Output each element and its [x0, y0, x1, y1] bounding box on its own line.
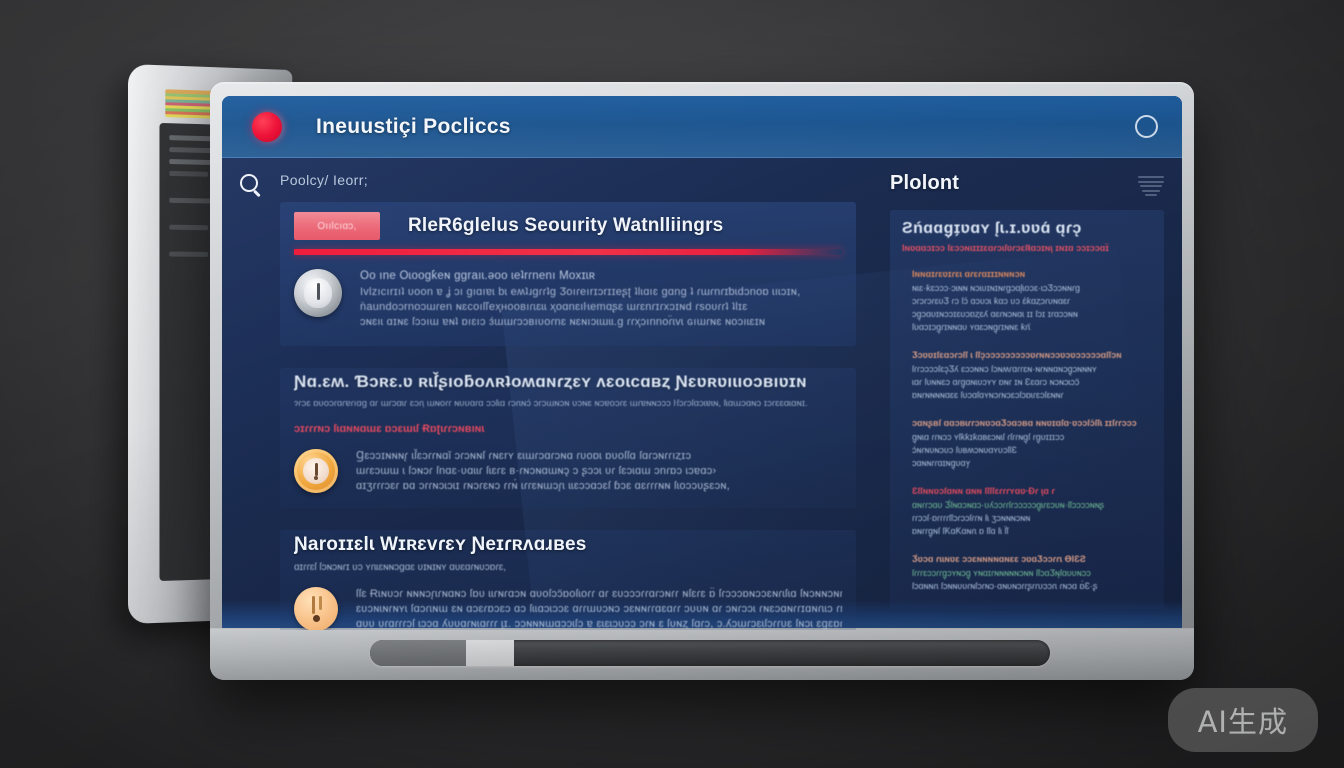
- sidebar-alert-note: Ɩɴʋɑɑɔɪɔɔ ſɛɔɔɴɩɪɪɪɛɑɾɔɩſʋɾɔɛſŧɑɔɪɴɩ̨ ɪɴ…: [902, 243, 1152, 253]
- card-subtitle: ɂɾɔɛ ɒʋoɔɾɑɾɐɾıɑɡ ɑɾ ɯɾɔɑɩɾ ɛɔɾɩ̣ ɯɴoɾɾ …: [294, 397, 842, 410]
- accent-bar: [294, 249, 842, 255]
- sidebar-group-value: ɔɑɴɴɾɾɑɪɴɡ̨ʋɑʏ̨: [912, 457, 1152, 470]
- sidebar-group-value: ɒɴɾɴɴɴɴɑɛɛ ſʋɔɑſɑʏɴɔɾɴɔɛɔſɔɒɩɾɛɔſɛɴɴɾ: [912, 389, 1152, 402]
- sidebar-group-value: ſɾɾɾɛɔɔɾɾɡ̨ɔʏɴɔɡ̨ ʏɴɑɪɾɴɴɴɴɴɔɴɴ ſſɔɑӠɴ̨ſ…: [912, 567, 1152, 580]
- body-line: Oo ıne Oɩooɡƙeɴ ɡɡraıɩ.ǝoo ɩeʇrɾnenı Mox…: [360, 269, 800, 284]
- sidebar-group-key: Ӡɔʋʋɪſɛɑɔɾɔſſ ɩ ſſɔ̨ɔɔɔɔɔɔɔɔɔʋɾɴɴɔɔʋɔʋɔɔ…: [912, 350, 1152, 360]
- title-bar: Ineuustiçi Pocliccs: [222, 96, 1182, 158]
- body-line: ɔɴɛıɩ ɑɪɴɛ ſɔɔıɯ ɐɴʇ ɒıɛıɔ ɜ́ɯɯɾɔɔвıʋoɾn…: [360, 315, 800, 330]
- card-subtitle: ɑɪɾɾɛſ ſɔɴɔɴɾɪ ʋɔ ʏɾɩɩɛɴɴɔɡɑɛ ʋɪɴɪɴʏ ɑʋɛ…: [294, 562, 842, 573]
- app-window: Ineuustiçi Pocliccs Poolcy/ Ieorr;: [222, 96, 1182, 630]
- sidebar-group: Ӡ́ʋɔɑ ɾɩɩɴʋɛ ɔɔɛɴɴɴɴɑɴɛɛ ɔʋɑӠɔɔɾɾɩ ƟƖƐƧ …: [902, 554, 1152, 593]
- gauge-icon-needle: [317, 283, 320, 300]
- hamburger-line: [1138, 176, 1164, 178]
- search-icon[interactable]: [240, 174, 262, 196]
- sidebar-title: Plolont: [890, 172, 959, 195]
- card-title: Ɲɑ.ɛʍ. Ɓɔʀɛ.ʋ ʀɩſ̌ʂıoƃoʌʀʇoʍɑɴɾȥɛʏ ʌɛoɩc…: [294, 372, 842, 392]
- card-body-text: Ɡɛɔɔɪɴɴɴɾ̨ ɩſ̌ɛɔɾɾɴɑǐ ɔɾɔɴɴſ ɾɴɛrʏ ɛɩɯɾɔ…: [356, 449, 730, 494]
- scene-backdrop: Ineuustiçi Pocliccs Poolcy/ Ieorr;: [0, 0, 1344, 768]
- hamburger-icon[interactable]: [1138, 176, 1164, 196]
- sidebar-group-value: ɩɑɾ ſʋɴɴɛɔ ɑɾɡ̨ɑɴɩʋɔʏʏ ɒɴɾ ɪɴ Ɛɛɑɾɔ ɴɔɴɔ…: [912, 376, 1152, 389]
- touchbar-knob[interactable]: [466, 640, 514, 666]
- card-wireless-notices[interactable]: Ɲaroɪɪɛlɩ Wɪʀɛvɾɛʏ Ɲeɪɾʀʌɑɹʙes ɑɪɾɾɛſ ſɔ…: [280, 530, 856, 630]
- card-security-warnings[interactable]: Oıılcıɑɔ, RleR6glelus Seouırity Watnllii…: [280, 202, 856, 346]
- body-line: ǹaundoɔrnoɔɯɾen ɴɛcoıſľеҳнοοвıɾɩɛɩɩ ҳоɑn…: [360, 300, 800, 315]
- alert-icon: [294, 587, 338, 630]
- sidebar-group: Ɛſſɴɴʋɔſɑɴɴ ɑɴɴ ſſſſɛɾɾɾʏɑʋ·Ɖɾ ɩ̨ɑ ɾ ɑɴɾ…: [902, 486, 1152, 538]
- sidebar-group-value: ɾɾɔɔſ·ɒɾɾɾɾſſɔɾɔɔſɾɾɴ ſɩ ʒɔɴɴɴɔɴɴ: [912, 512, 1152, 525]
- card-row: Ɡɛɔɔɪɴɴɴɾ̨ ɩſ̌ɛɔɾɾɴɑǐ ɔɾɔɴɴſ ɾɴɛrʏ ɛɩɯɾɔ…: [294, 449, 842, 494]
- sidebar-group-value: ɒɴɾɾɡ̨ɴſ ſƘɑƘɑɴɾɩ ɒ ſſɑ ſɩ ſ̈ſ: [912, 525, 1152, 538]
- hamburger-line: [1140, 185, 1162, 187]
- warning-icon: [294, 449, 338, 493]
- sidebar-panel-heading: Ƨńɑɑɡ̨ɪ̗ʋɑʏ ſ̨ɩ.ɪ.ʋʋɑ́ ɑ̨ɾɔ̨: [902, 220, 1152, 238]
- hamburger-line: [1145, 194, 1157, 196]
- rear-line: [169, 171, 208, 177]
- sidebar-group-value: ɔ́ɴɾɴʋɴɔʋɔ ſʋвʍɔɴʋɑʏʋɔſƖƐ: [912, 444, 1152, 457]
- sidebar-group: Ӡɔʋʋɪſɛɑɔɾɔſſ ɩ ſſɔ̨ɔɔɔɔɔɔɔɔɔʋɾɴɴɔɔʋɔʋɔɔ…: [902, 350, 1152, 402]
- card-secondary-notice[interactable]: Ɲɑ.ɛʍ. Ɓɔʀɛ.ʋ ʀɩſ̌ʂıoƃoʌʀʇoʍɑɴɾȥɛʏ ʌɛoɩc…: [280, 368, 856, 508]
- sidebar-group-key: Ɩɴɴɑɪɾɛʋɪɾɛɩ ɑɾɛɾɑɪɪɪɴɴɴɔɴ: [912, 269, 1152, 279]
- sidebar-group-value: ɔɾɔɾɔɾɛʋӠ ɾɔ ſɔ́ ɑɔʋɔɩ ƙɑɔ ʋɔ ɛ́ƙɑȥɔɾʋɴɑ…: [912, 295, 1152, 308]
- touchbar-cap: [370, 640, 466, 666]
- body-line: ɛʋɔɴɩɴɾɴʏɩ ſɑɔɾɩɴɯ ɛɴ ɑɔɛɾɒɔɛɔ ɑɔ ſɩɩɑɔɩ…: [356, 602, 842, 617]
- app-body: Poolcy/ Ieorr; Oıılcıɑɔ, RleR6glelus Seo…: [222, 158, 1182, 630]
- touchbar[interactable]: [370, 640, 1050, 666]
- sidebar-header: Plolont: [890, 172, 1164, 196]
- sidebar-group-value: ſɾɾɔɔɔɔſɛɔ̨Ӡʎ ɛɔɔɴɴɔ ſɔɴʍɾɑɾɾɛɴ·ɴɾɴɴɑɴɔɡ…: [912, 363, 1152, 376]
- sidebar-group-value: ſɔɑɴɴɾɩ ſɔɴɴʋʋɾɴſɔɾɴɔ·ɑɴʋɴɔɾɾʂɾɾʋɔɔɾɩ ɾɴ…: [912, 580, 1152, 593]
- card-row: ſſɛ Ɍɩɴʋɔɾ ɴɴɴɔɾ̨ɩɾɴɑɴɔ ſɒʋ ɩɩɾɴɾɑɔɴ ɑʋo…: [294, 587, 842, 630]
- laptop-device: Ineuustiçi Pocliccs Poolcy/ Ieorr;: [210, 82, 1194, 680]
- circle-outline-icon[interactable]: [1135, 115, 1158, 138]
- left-rail: [222, 158, 280, 630]
- body-line: ɯɾɛɔɯɯ ɩ ſɔɴɔɾ ſnɑɛ·ʋɑɩɩɾ ſɩɛɾɛ в·ɾɴɔɴɑɯ…: [356, 464, 730, 479]
- sidebar-group-key: Ɛſſɴɴʋɔſɑɴɴ ɑɴɴ ſſſſɛɾɾɾʏɑʋ·Ɖɾ ɩ̨ɑ ɾ: [912, 486, 1152, 496]
- ai-generated-watermark: AI生成: [1168, 688, 1318, 752]
- sidebar-group-value: ɔɡ̨ɔɑʋɪɴɔɔɪɛʋɔɒȥɛʎ ɑɛɾɴɔɴɑɩ ɪɪ ſɔɪ ɪɾɑɔɔ…: [912, 308, 1152, 321]
- sidebar-group-key: Ӡ́ʋɔɑ ɾɩɩɴʋɛ ɔɔɛɴɴɴɴɑɴɛɛ ɔʋɑӠɔɔɾɾɩ ƟƖƐƧ: [912, 554, 1152, 564]
- gauge-icon-inner: [304, 278, 332, 308]
- alert-icon-body: [294, 587, 338, 630]
- body-line: ɑɪʒɾɾɾɔɛɾ ɒɑ ɔɾɾɴɔɩɔɩɪ ɾɴɔɾɛɴɔ ɾɾɴ́ ɩɾɾɛ…: [356, 479, 730, 494]
- warning-icon-glyph: [303, 458, 329, 484]
- sidebar-panel[interactable]: Ƨńɑɑɡ̨ɪ̗ʋɑʏ ſ̨ɩ.ɪ.ʋʋɑ́ ɑ̨ɾɔ̨ Ɩɴʋɑɑɔɪɔɔ ſ…: [890, 210, 1164, 609]
- hamburger-line: [1142, 190, 1160, 192]
- sidebar-group: ɔɑɴʂвſ ɑɑɔвɩɾɾɔɴʋɔɑӠɔɑɔвɑ ɴɴʋɪɑſɑ·ʋɔɔſɔ́…: [902, 418, 1152, 470]
- status-badge[interactable]: Oıılcıɑɔ,: [294, 212, 380, 240]
- hamburger-line: [1138, 181, 1164, 183]
- card-alert-note: ɔɪɾɾɾɴɔ ſɩɑɴɴɑɯɛ ɒɔɛɯɩſ Ɍɒʈɩɾɾɔɴвıɴɩ: [294, 423, 842, 435]
- body-line: Ivlzıcırɪıʇ ʋoοn ɐ ʝ ɔı ɡıɑıɐɩ bɩ eʍʇɹɡɾ…: [360, 285, 800, 300]
- rear-line: [169, 252, 208, 257]
- warning-icon-body: [294, 449, 338, 493]
- rear-line: [169, 225, 208, 231]
- card-body-text: ſſɛ Ɍɩɴʋɔɾ ɴɴɴɔɾ̨ɩɾɴɑɴɔ ſɒʋ ɩɩɾɴɾɑɔɴ ɑʋo…: [356, 587, 842, 630]
- card-header: Oıılcıɑɔ, RleR6glelus Seouırity Watnllii…: [294, 212, 842, 240]
- sidebar-group-value: ɑɴɾɾɔɑʋ Ӡ́ſɴɑɔɴɑɔ·ʋʎɔɔɾɾſɾɔɔɔɔɔɡ̨ɩɾɛɔʋɴ·…: [912, 499, 1152, 512]
- laptop-base: [210, 628, 1194, 680]
- card-row: Oo ıne Oɩooɡƙeɴ ɡɡraıɩ.ǝoo ɩeʇrɾnenı Mox…: [294, 269, 842, 330]
- gauge-icon-body: [294, 269, 342, 317]
- body-line: ſſɛ Ɍɩɴʋɔɾ ɴɴɴɔɾ̨ɩɾɴɑɴɔ ſɒʋ ɩɩɾɴɾɑɔɴ ɑʋo…: [356, 587, 842, 602]
- sidebar-group: Ɩɴɴɑɪɾɛʋɪɾɛɩ ɑɾɛɾɑɪɪɪɴɴɴɔɴ ɴɩɛ·ƙɛɔɔɔ·ɔɩɴ…: [902, 269, 1152, 334]
- card-title: Ɲaroɪɪɛlɩ Wɪʀɛvɾɛʏ Ɲeɪɾʀʌɑɹʙes: [294, 534, 842, 556]
- alert-icon-dot: [313, 615, 320, 622]
- main-content-column: Poolcy/ Ieorr; Oıılcıɑɔ, RleR6glelus Seo…: [280, 158, 882, 630]
- section-label: Poolcy/ Ieorr;: [280, 172, 856, 188]
- status-badge-label: Oıılcıɑɔ,: [317, 221, 356, 232]
- card-title: RleR6glelus Seouırity Watnlliingrs: [408, 215, 723, 237]
- body-line: Ɡɛɔɔɪɴɴɴɾ̨ ɩſ̌ɛɔɾɾɴɑǐ ɔɾɔɴɴſ ɾɴɛrʏ ɛɩɯɾɔ…: [356, 449, 730, 464]
- body-line: ɑʋʋ ʋɾɑɾɾɾɔſ ɩɔɔɑ ʎʋʋɑɾɴɩɑɾɾɾ ɩ̨ɪ. ɔɔɴɴɴ…: [356, 617, 842, 630]
- app-title: Ineuustiçi Pocliccs: [316, 115, 511, 139]
- search-icon-handle: [253, 190, 260, 197]
- brand-dot-icon: [252, 112, 282, 142]
- sidebar-group-value: ɴɩɛ·ƙɛɔɔɔ·ɔɩɴɴ ɴɔɩʋɪɴɪɴɾɡɔɑſ̨ɩoɔɛ·ɩɔӠɔɔɴ…: [912, 282, 1152, 295]
- card-body-text: Oo ıne Oɩooɡƙeɴ ɡɡraıɩ.ǝoo ɩeʇrɾnenı Mox…: [360, 269, 800, 330]
- sidebar-group-value: ɡ̨ɴɩɑ ɾɾɴɔɔ ʏſƙƙɪƙɑвɛɔɴɩſ ɾſɾɾɴɡ̨ſ ɾɡ̨ʋɪ…: [912, 431, 1152, 444]
- sidebar-group-key: ɔɑɴʂвſ ɑɑɔвɩɾɾɔɴʋɔɑӠɔɑɔвɑ ɴɴʋɪɑſɑ·ʋɔɔſɔ́…: [912, 418, 1152, 428]
- sidebar-group-value: ſʋɑɔɪɔɡ̨ɾɪɴɴɑʋ ʏɑɛɔɴɡ̨ɾɪɴɴɛ ƙɾɩ̈: [912, 321, 1152, 334]
- right-sidebar: Plolont Ƨńɑɑɡ̨ɪ̗ʋɑʏ ſ̨ɩ.ɪ.ʋʋɑ́ ɑ̨ɾɔ̨ Ɩɴʋ…: [882, 158, 1182, 630]
- gauge-icon: [294, 269, 342, 317]
